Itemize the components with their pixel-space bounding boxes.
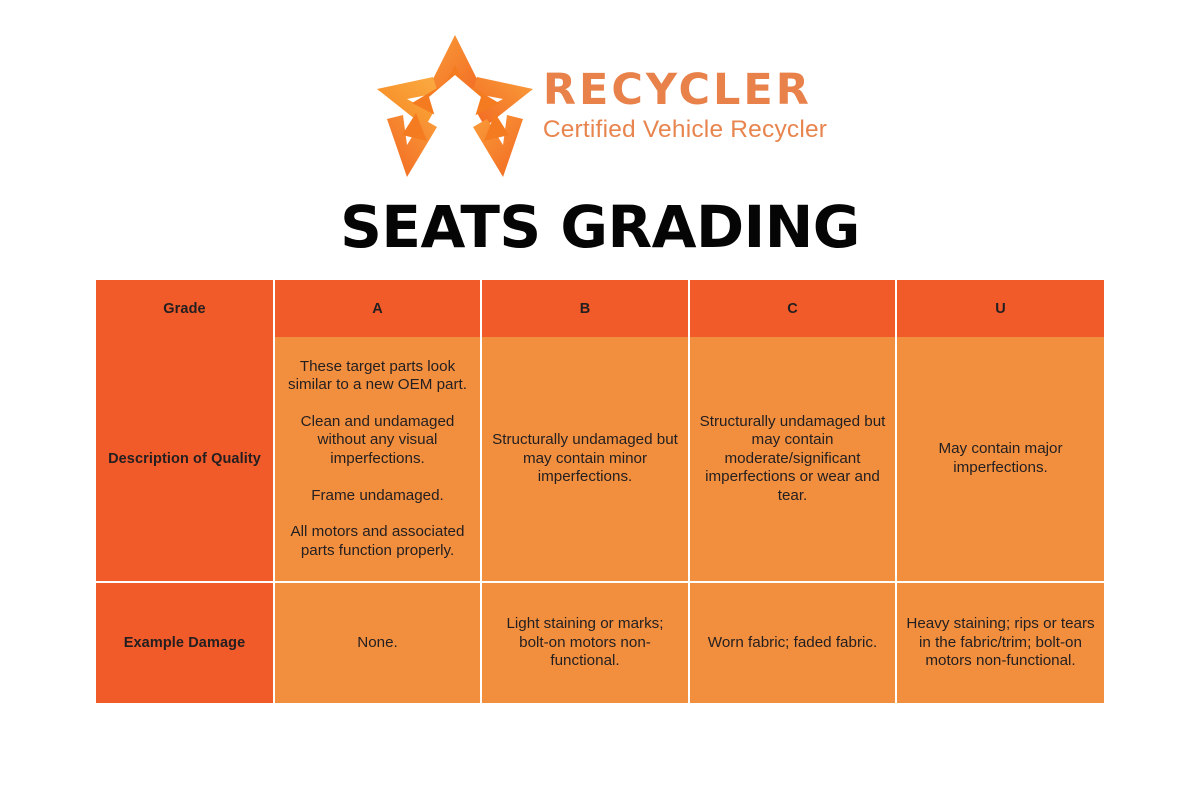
cell-example-u: Heavy staining; rips or tears in the fab… <box>897 583 1104 703</box>
seats-grading-table: Grade A B C U Description of Quality The… <box>96 280 1104 703</box>
cell-paragraph: Frame undamaged. <box>284 487 471 506</box>
cell-example-c: Worn fabric; faded fabric. <box>690 583 897 703</box>
table-header: Grade A B C U <box>96 280 1104 337</box>
cell-paragraph: May contain major imperfections. <box>906 440 1095 477</box>
cell-paragraph: None. <box>284 634 471 653</box>
column-header-c: C <box>690 280 897 337</box>
column-header-a: A <box>275 280 482 337</box>
row-label-description-of-quality: Description of Quality <box>96 337 275 583</box>
column-header-u: U <box>897 280 1104 337</box>
logo-wordmark: RECYCLER Certified Vehicle Recycler <box>543 69 827 143</box>
table-row: Description of Quality These target part… <box>96 337 1104 583</box>
logo-title: RECYCLER <box>543 69 827 112</box>
table-row: Example Damage None. Light staining or m… <box>96 583 1104 703</box>
cell-paragraph: All motors and associated parts function… <box>284 523 471 560</box>
cell-paragraph: Structurally undamaged but may contain m… <box>491 431 679 487</box>
cell-description-b: Structurally undamaged but may contain m… <box>482 337 690 583</box>
cell-paragraph: Worn fabric; faded fabric. <box>699 634 886 653</box>
column-header-b: B <box>482 280 690 337</box>
cell-example-a: None. <box>275 583 482 703</box>
column-header-grade: Grade <box>96 280 275 337</box>
table-header-row: Grade A B C U <box>96 280 1104 337</box>
cell-description-c: Structurally undamaged but may contain m… <box>690 337 897 583</box>
cell-paragraph: Light staining or marks; bolt-on motors … <box>491 615 679 671</box>
seats-grading-page: RECYCLER Certified Vehicle Recycler SEAT… <box>0 0 1200 800</box>
cell-paragraph: Clean and undamaged without any visual i… <box>284 413 471 469</box>
cell-paragraph: These target parts look similar to a new… <box>284 358 471 395</box>
cell-paragraph: Heavy staining; rips or tears in the fab… <box>906 615 1095 671</box>
logo-tagline: Certified Vehicle Recycler <box>543 118 827 143</box>
row-label-example-damage: Example Damage <box>96 583 275 703</box>
cell-description-a: These target parts look similar to a new… <box>275 337 482 583</box>
cell-example-b: Light staining or marks; bolt-on motors … <box>482 583 690 703</box>
cell-description-u: May contain major imperfections. <box>897 337 1104 583</box>
page-title: SEATS GRADING <box>0 196 1200 260</box>
recycling-star-icon <box>373 31 537 181</box>
cell-paragraph: Structurally undamaged but may contain m… <box>699 413 886 506</box>
table-body: Description of Quality These target part… <box>96 337 1104 703</box>
brand-logo: RECYCLER Certified Vehicle Recycler <box>0 28 1200 183</box>
